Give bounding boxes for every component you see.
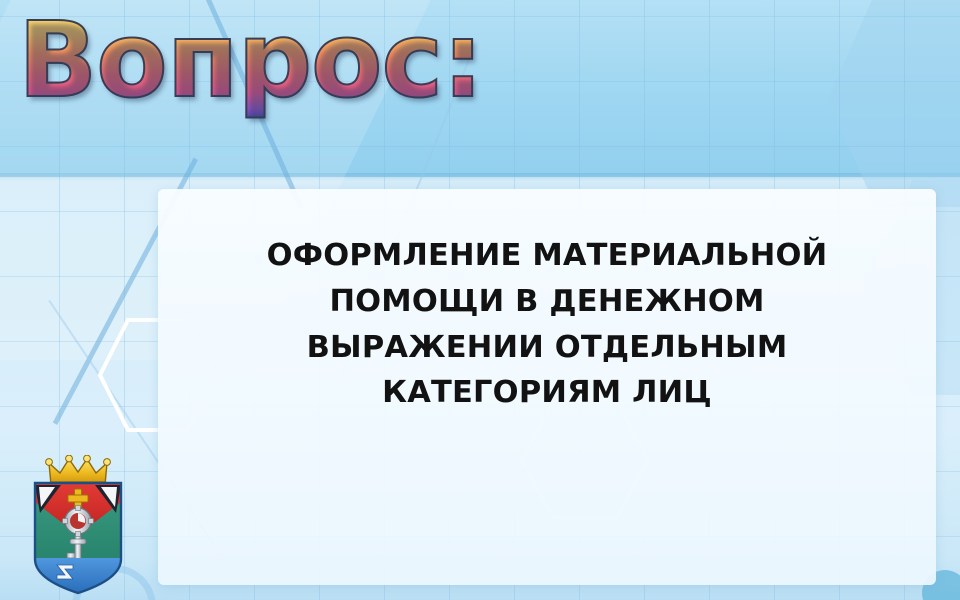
content-body-text: ОФОРМЛЕНИЕ МАТЕРИАЛЬНОЙ ПОМОЩИ В ДЕНЕЖНО… bbox=[158, 233, 936, 416]
background-hexagon-right-top bbox=[828, 0, 960, 207]
background-band-shadow bbox=[0, 173, 960, 181]
coat-of-arms-icon bbox=[27, 455, 129, 595]
slide-title: Вопрос: bbox=[18, 2, 483, 118]
slide-canvas: Вопрос: ОФОРМЛЕНИЕ МАТЕРИАЛЬНОЙ ПОМОЩИ В… bbox=[0, 0, 960, 600]
content-panel: ОФОРМЛЕНИЕ МАТЕРИАЛЬНОЙ ПОМОЩИ В ДЕНЕЖНО… bbox=[158, 189, 936, 585]
